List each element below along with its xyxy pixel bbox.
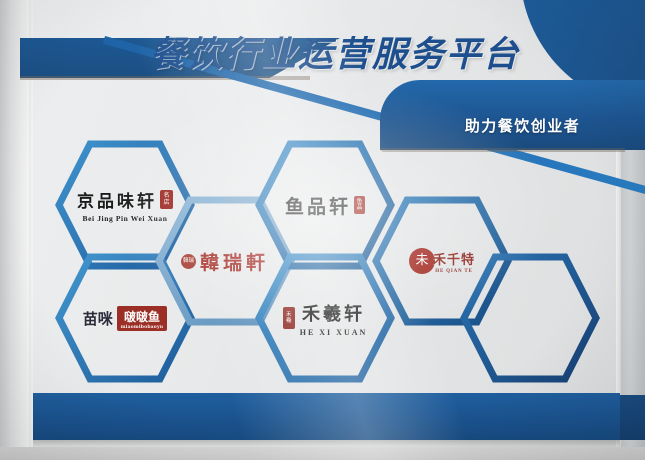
bottom-accent-band-right	[620, 395, 645, 440]
hexagon-vacant-slot[interactable]	[460, 253, 600, 383]
bottom-accent-band	[33, 393, 620, 440]
bottom-band-shadow	[33, 440, 620, 447]
title-text: 餐饮行业运营服务平台	[150, 26, 580, 77]
page-title: 餐饮行业运营服务平台	[150, 26, 580, 82]
signage-wall: 餐饮行业运营服务平台 助力餐饮创业者 京品味轩 名店 Bei Jing Pin …	[0, 0, 645, 460]
subtitle-text: 助力餐饮创业者	[430, 115, 615, 139]
subtitle-banner-shadow	[380, 148, 625, 152]
floor-strip	[0, 447, 645, 460]
